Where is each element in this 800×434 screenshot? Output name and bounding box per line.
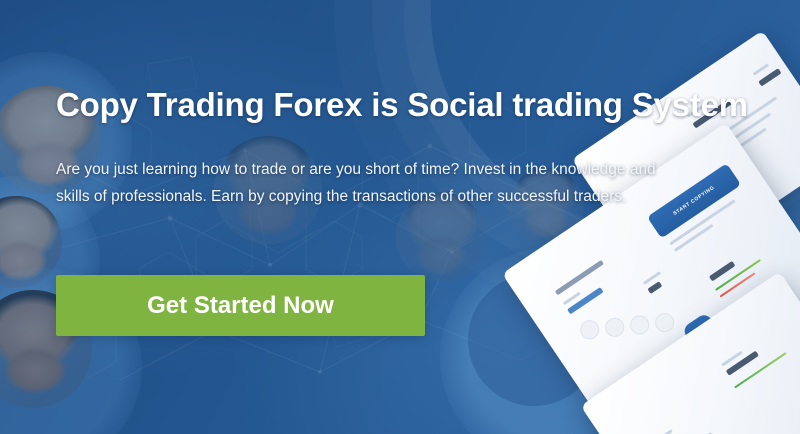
hero-banner: START COPYING Copy Trading Forex is Soci…	[0, 0, 800, 434]
page-title: Copy Trading Forex is Social trading Sys…	[56, 84, 756, 126]
avatar-trader-man-featured	[468, 274, 600, 406]
dashboard-card-profit	[581, 272, 800, 434]
get-started-button[interactable]: Get Started Now	[56, 275, 425, 336]
avatar-trader-man-dark-hair	[0, 196, 62, 288]
start-copying-label: START COPYING	[672, 185, 716, 217]
page-subtext: Are you just learning how to trade or ar…	[56, 156, 666, 210]
